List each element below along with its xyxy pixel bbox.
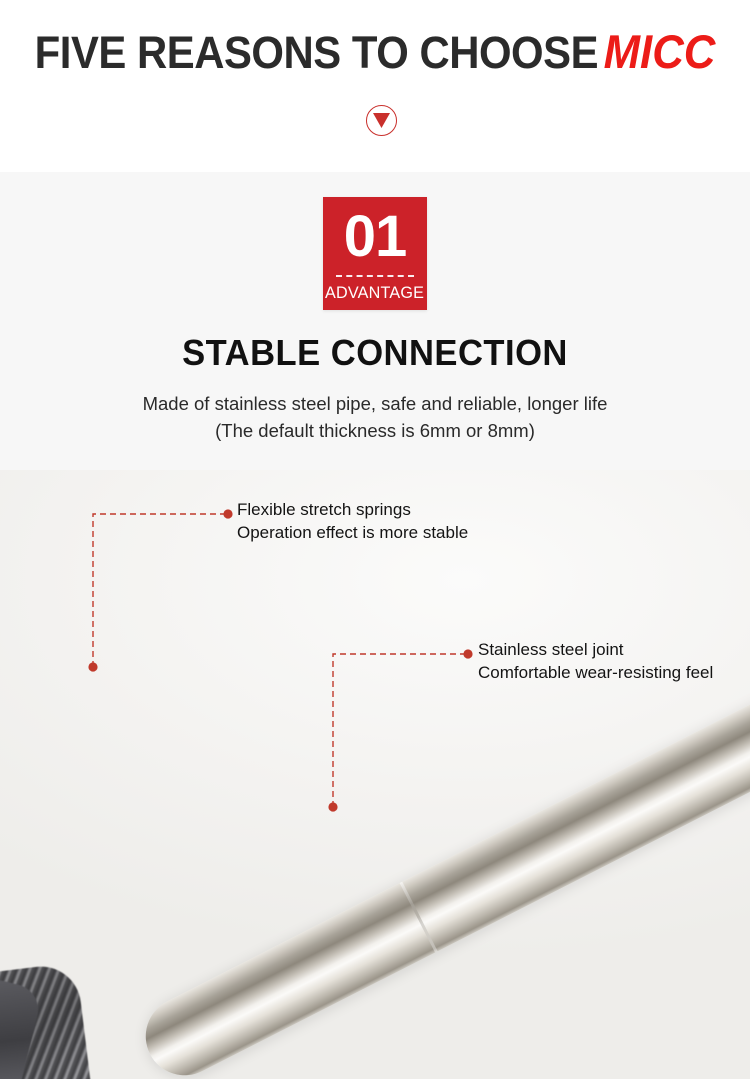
badge-dashed-divider bbox=[336, 275, 414, 277]
callout-joint-line-2: Comfortable wear-resisting feel bbox=[478, 661, 713, 684]
section-heading: STABLE CONNECTION bbox=[15, 332, 735, 374]
callout-joint-line-1: Stainless steel joint bbox=[478, 638, 713, 661]
page-title: FIVE REASONS TO CHOOSEMICC bbox=[26, 26, 724, 78]
callout-springs-line-1: Flexible stretch springs bbox=[237, 498, 468, 521]
brand-name-micc: MICC bbox=[598, 25, 715, 78]
page-title-main: FIVE REASONS TO CHOOSE bbox=[35, 27, 598, 78]
advantage-number: 01 bbox=[344, 208, 407, 266]
callout-springs-line-2: Operation effect is more stable bbox=[237, 521, 468, 544]
section-subtitle-line-2: (The default thickness is 6mm or 8mm) bbox=[0, 417, 750, 444]
advantage-badge: 01 ADVANTAGE bbox=[323, 197, 427, 310]
page-header: FIVE REASONS TO CHOOSEMICC bbox=[0, 0, 750, 172]
advantage-section: 01 ADVANTAGE STABLE CONNECTION Made of s… bbox=[0, 172, 750, 1079]
product-feature-page: FIVE REASONS TO CHOOSEMICC 01 ADVANTAGE … bbox=[0, 0, 750, 1079]
section-subtitle: Made of stainless steel pipe, safe and r… bbox=[0, 390, 750, 444]
chevron-down-circle-icon bbox=[366, 105, 397, 136]
section-subtitle-line-1: Made of stainless steel pipe, safe and r… bbox=[0, 390, 750, 417]
advantage-label: ADVANTAGE bbox=[325, 284, 424, 303]
callout-springs: Flexible stretch springs Operation effec… bbox=[237, 498, 468, 544]
callout-joint: Stainless steel joint Comfortable wear-r… bbox=[478, 638, 713, 684]
product-photo bbox=[0, 470, 750, 1079]
